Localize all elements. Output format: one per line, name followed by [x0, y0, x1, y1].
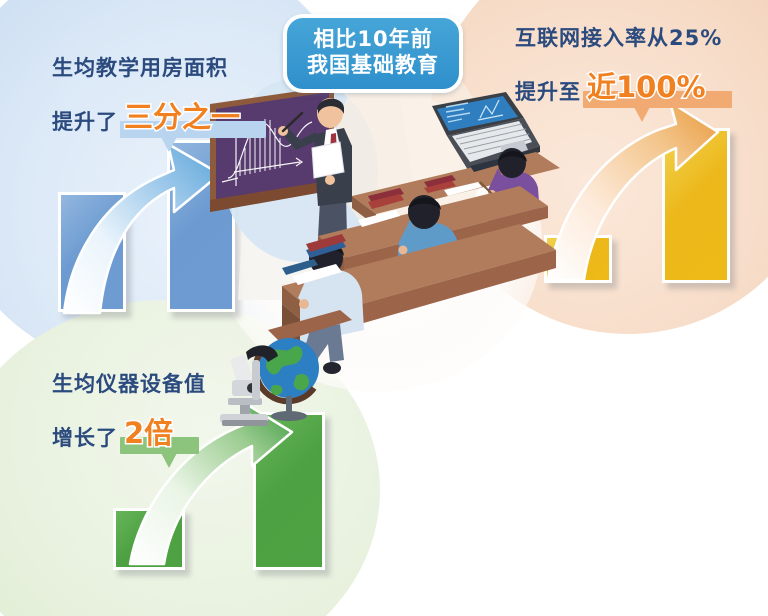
callout-classroom-area-value: 三分之一 [124, 100, 240, 134]
infographic-canvas: 相比10年前 我国基础教育 生均教学用房面积 提升了 三分之一 互联网接入率从2… [0, 0, 768, 616]
center-title-badge: 相比10年前 我国基础教育 [283, 14, 463, 93]
callout-classroom-area: 生均教学用房面积 提升了 三分之一 [52, 52, 240, 136]
callout-classroom-area-line2: 提升了 三分之一 [52, 94, 240, 136]
highlight-tail-green [160, 451, 178, 468]
callout-equipment-value: 生均仪器设备值 增长了 2倍 [52, 368, 206, 452]
callout-classroom-area-highlight-wrap: 三分之一 [124, 94, 240, 136]
callout-equipment-value-line2: 增长了 2倍 [52, 410, 206, 452]
callout-internet-access: 互联网接入率从25% 提升至 近100% [515, 22, 722, 106]
callout-internet-access-highlight-wrap: 近100% [587, 64, 706, 106]
callout-classroom-area-lead: 提升了 [52, 106, 118, 136]
highlight-tail-blue [160, 135, 178, 152]
callout-internet-access-line1: 互联网接入率从25% [515, 22, 722, 52]
callout-internet-access-line2: 提升至 近100% [515, 64, 722, 106]
callout-internet-access-value: 近100% [587, 70, 706, 104]
callout-equipment-value-lead: 增长了 [52, 422, 118, 452]
callout-equipment-value-value: 2倍 [124, 416, 173, 450]
highlight-tail-orange [633, 105, 651, 122]
callout-classroom-area-line1: 生均教学用房面积 [52, 52, 240, 82]
callout-internet-access-lead: 提升至 [515, 76, 581, 106]
title-line-2: 我国基础教育 [287, 53, 459, 79]
callout-equipment-value-line1: 生均仪器设备值 [52, 368, 206, 398]
callout-equipment-value-highlight-wrap: 2倍 [124, 410, 173, 452]
title-line-1: 相比10年前 [287, 27, 459, 53]
